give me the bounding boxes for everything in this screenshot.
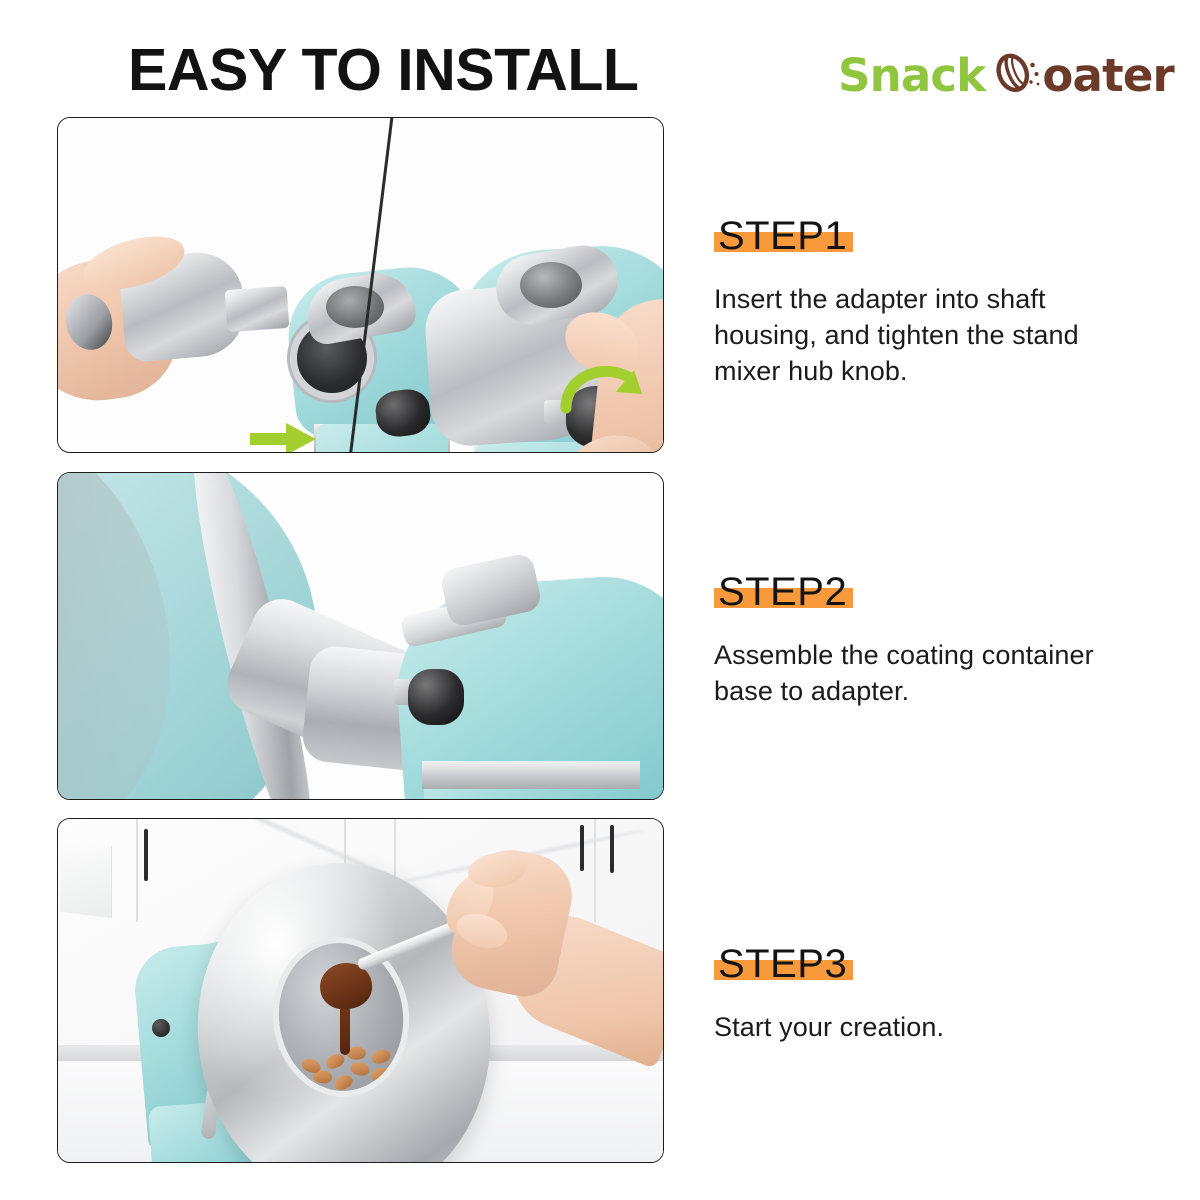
logo-text-coater: oater — [1042, 53, 1174, 98]
adapter-shaft — [225, 286, 290, 332]
step3-photo-panel — [57, 818, 664, 1163]
insert-arrow-icon — [250, 422, 316, 452]
cabinet-handle — [610, 825, 614, 873]
step-3-description: Start your creation. — [714, 1010, 1118, 1046]
step-2-label-wrap: STEP2 — [714, 572, 853, 612]
wall-cabinet — [60, 840, 112, 918]
step2-scene — [58, 473, 663, 799]
almond — [292, 1075, 314, 1094]
step-2-label: STEP2 — [718, 570, 847, 614]
almond — [332, 1072, 355, 1092]
step-3-label-wrap: STEP3 — [714, 944, 853, 984]
step-2-description: Assemble the coating container base to a… — [714, 638, 1118, 710]
hub-knob — [408, 669, 464, 725]
brand-logo: Snack oater — [838, 48, 1174, 102]
step-3-label: STEP3 — [718, 942, 847, 986]
cabinet-seam — [136, 819, 138, 922]
step-1-label: STEP1 — [718, 214, 847, 258]
step1-photo-panel — [57, 117, 664, 453]
step-1-label-wrap: STEP1 — [714, 216, 853, 256]
step3-scene — [58, 819, 663, 1162]
step2-photo-panel — [57, 472, 664, 800]
attachment-hub-socket — [326, 286, 384, 328]
rotate-arrow-icon — [560, 358, 646, 422]
cabinet-handle — [144, 829, 148, 881]
header: EASY TO INSTALL Snack oater — [0, 0, 1200, 118]
almond — [349, 1060, 370, 1077]
almond — [388, 1059, 409, 1075]
cabinet-seam — [594, 819, 596, 922]
cabinet-handle — [580, 825, 584, 871]
step-1-description: Insert the adapter into shaft housing, a… — [714, 282, 1118, 390]
step-3-block: STEP3 Start your creation. — [714, 944, 1134, 1046]
step1-scene — [58, 118, 663, 452]
logo-text-snack: Snack — [838, 53, 985, 98]
cocoa-bean-icon — [989, 47, 1041, 99]
mixer-collar — [422, 761, 640, 789]
chocolate-drip — [340, 1003, 350, 1055]
step-1-block: STEP1 Insert the adapter into shaft hous… — [714, 216, 1134, 390]
attachment-hub-socket-right — [520, 262, 582, 308]
page-title: EASY TO INSTALL — [128, 36, 638, 104]
mixer-speed-knob — [152, 1019, 170, 1037]
step-2-block: STEP2 Assemble the coating container bas… — [714, 572, 1134, 710]
